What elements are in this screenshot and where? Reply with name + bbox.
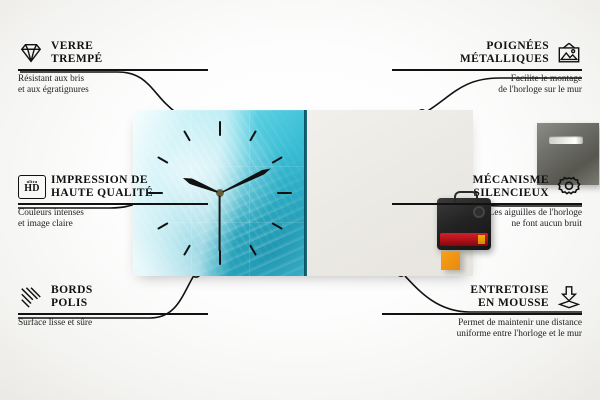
clock-tick xyxy=(220,192,292,194)
feature-description: Permet de maintenir une distance uniform… xyxy=(382,318,582,341)
feature-divider xyxy=(392,203,582,205)
feature-divider xyxy=(18,203,208,205)
feature-description: Les aiguilles de l'horloge ne font aucun… xyxy=(392,208,582,231)
feature-verre-trempe: VERRE TREMPÉ Résistant aux bris et aux é… xyxy=(18,40,208,97)
feature-divider xyxy=(382,313,582,315)
feature-description: Résistant aux bris et aux égratignures xyxy=(18,74,208,97)
feature-header: MÉCANISME SILENCIEUX xyxy=(392,174,582,200)
feature-divider xyxy=(18,69,208,71)
feature-title: ENTRETOISE EN MOUSSE xyxy=(470,284,549,310)
feature-mecanisme-silencieux: MÉCANISME SILENCIEUX Les aiguilles de l'… xyxy=(392,174,582,231)
feature-header: VERRE TREMPÉ xyxy=(18,40,208,66)
ultra-hd-main-text: HD xyxy=(24,184,40,194)
metal-handle-slot xyxy=(549,136,583,144)
feature-title: BORDS POLIS xyxy=(51,284,93,310)
feature-poignees-metalliques: POIGNÉES MÉTALLIQUES Facilite le montage… xyxy=(392,40,582,97)
ultra-hd-icon: ultra HD xyxy=(18,175,44,199)
foam-spacer xyxy=(441,251,460,270)
feature-header: BORDS POLIS xyxy=(18,284,208,310)
clock-tick xyxy=(219,121,221,193)
clock-center-cap xyxy=(217,190,223,196)
feature-title: VERRE TREMPÉ xyxy=(51,40,103,66)
gear-icon xyxy=(556,175,582,199)
polished-edges-icon xyxy=(18,285,44,309)
diamond-icon xyxy=(18,41,44,65)
feature-divider xyxy=(392,69,582,71)
feature-description: Surface lisse et sûre xyxy=(18,318,208,330)
feature-header: POIGNÉES MÉTALLIQUES xyxy=(392,40,582,66)
foam-spacer-icon xyxy=(556,285,582,309)
feature-title: IMPRESSION DE HAUTE QUALITÉ xyxy=(51,174,153,200)
feature-impression-haute-qualite: ultra HD IMPRESSION DE HAUTE QUALITÉ Cou… xyxy=(18,174,208,231)
feature-bords-polis: BORDS POLIS Surface lisse et sûre xyxy=(18,284,208,329)
feature-entretoise-en-mousse: ENTRETOISE EN MOUSSE Permet de maintenir… xyxy=(382,284,582,341)
feature-description: Facilite le montage de l'horloge sur le … xyxy=(392,74,582,97)
feature-title: MÉCANISME SILENCIEUX xyxy=(473,174,549,200)
feature-header: ultra HD IMPRESSION DE HAUTE QUALITÉ xyxy=(18,174,208,200)
mechanism-battery xyxy=(440,233,488,246)
infographic-stage: VERRE TREMPÉ Résistant aux bris et aux é… xyxy=(0,0,600,400)
clock-second-hand xyxy=(219,193,221,251)
wall-mount-frame-icon xyxy=(556,41,582,65)
feature-title: POIGNÉES MÉTALLIQUES xyxy=(460,40,549,66)
feature-divider xyxy=(18,313,208,315)
feature-description: Couleurs intenses et image claire xyxy=(18,208,208,231)
feature-header: ENTRETOISE EN MOUSSE xyxy=(382,284,582,310)
